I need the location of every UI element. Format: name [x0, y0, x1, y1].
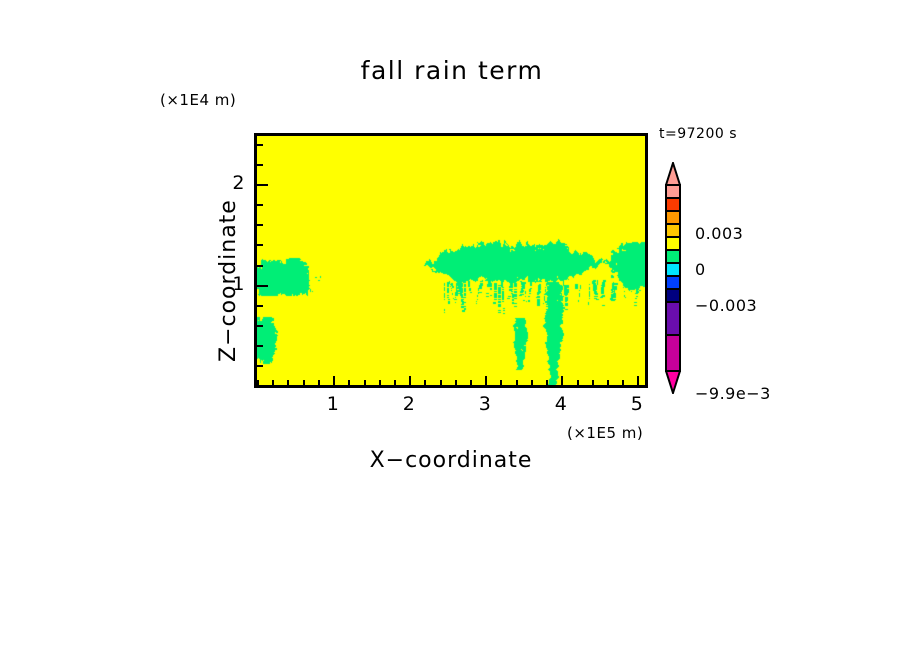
colorbar-bands: [665, 184, 681, 372]
colorbar-band: [667, 264, 679, 277]
y-minor-tick: [257, 305, 263, 307]
contour-field: [257, 136, 645, 385]
colorbar-band: [667, 251, 679, 264]
y-minor-tick: [257, 365, 263, 367]
x-minor-tick: [455, 380, 457, 385]
colorbar-band: [667, 290, 679, 303]
x-minor-tick: [440, 380, 442, 385]
y-major-tick: [257, 285, 268, 287]
x-tick-label: 5: [617, 393, 657, 415]
colorbar-band: [667, 186, 679, 199]
x-tick-label: 3: [465, 393, 505, 415]
colorbar-tick-label: −9.9e−3: [695, 384, 771, 403]
colorbar-tick-label: 0: [695, 260, 706, 279]
x-tick-label: 1: [313, 393, 353, 415]
x-major-tick: [561, 376, 563, 385]
y-minor-tick: [257, 325, 263, 327]
x-minor-tick: [379, 380, 381, 385]
colorbar-band: [667, 238, 679, 251]
x-minor-tick: [607, 380, 609, 385]
x-tick-label: 2: [389, 393, 429, 415]
y-axis-title: Z−coordinate: [216, 199, 241, 362]
colorbar-top-arrow-icon: [665, 162, 681, 186]
colorbar-tick-label: 0.003: [695, 224, 743, 243]
x-major-tick: [637, 376, 639, 385]
time-annotation: t=97200 s: [659, 126, 737, 142]
y-axis-unit-label: (×1E4 m): [160, 91, 236, 109]
x-minor-tick: [318, 380, 320, 385]
x-axis-title: X−coordinate: [254, 448, 648, 473]
colorbar: [665, 162, 681, 394]
x-minor-tick: [516, 380, 518, 385]
x-minor-tick: [348, 380, 350, 385]
colorbar-band: [667, 225, 679, 238]
x-minor-tick: [364, 380, 366, 385]
x-tick-label: 4: [541, 393, 581, 415]
y-minor-tick: [257, 224, 263, 226]
x-minor-tick: [424, 380, 426, 385]
x-major-tick: [485, 376, 487, 385]
x-minor-tick: [500, 380, 502, 385]
x-minor-tick: [470, 380, 472, 385]
y-tick-label: 2: [205, 172, 245, 194]
x-minor-tick: [577, 380, 579, 385]
y-minor-tick: [257, 265, 263, 267]
colorbar-bottom-arrow-icon: [665, 370, 681, 394]
x-minor-tick: [287, 380, 289, 385]
colorbar-band: [667, 277, 679, 290]
colorbar-tick-label: −0.003: [695, 296, 757, 315]
colorbar-band: [667, 199, 679, 212]
x-minor-tick: [272, 380, 274, 385]
y-minor-tick: [257, 345, 263, 347]
x-minor-tick: [394, 380, 396, 385]
x-major-tick: [333, 376, 335, 385]
y-minor-tick: [257, 204, 263, 206]
plot-area: [254, 133, 648, 388]
x-minor-tick: [622, 380, 624, 385]
y-minor-tick: [257, 244, 263, 246]
x-minor-tick: [592, 380, 594, 385]
colorbar-band: [667, 336, 679, 370]
x-major-tick: [409, 376, 411, 385]
colorbar-band: [667, 303, 679, 337]
y-minor-tick: [257, 164, 263, 166]
y-major-tick: [257, 184, 268, 186]
x-minor-tick: [531, 380, 533, 385]
figure-canvas: fall rain term (×1E4 m) t=97200 s 12345 …: [0, 0, 904, 654]
y-minor-tick: [257, 144, 263, 146]
x-minor-tick: [303, 380, 305, 385]
page-title: fall rain term: [0, 56, 904, 85]
colorbar-band: [667, 212, 679, 225]
x-minor-tick: [546, 380, 548, 385]
x-axis-unit-label: (×1E5 m): [567, 424, 643, 442]
y-minor-tick: [257, 385, 263, 387]
